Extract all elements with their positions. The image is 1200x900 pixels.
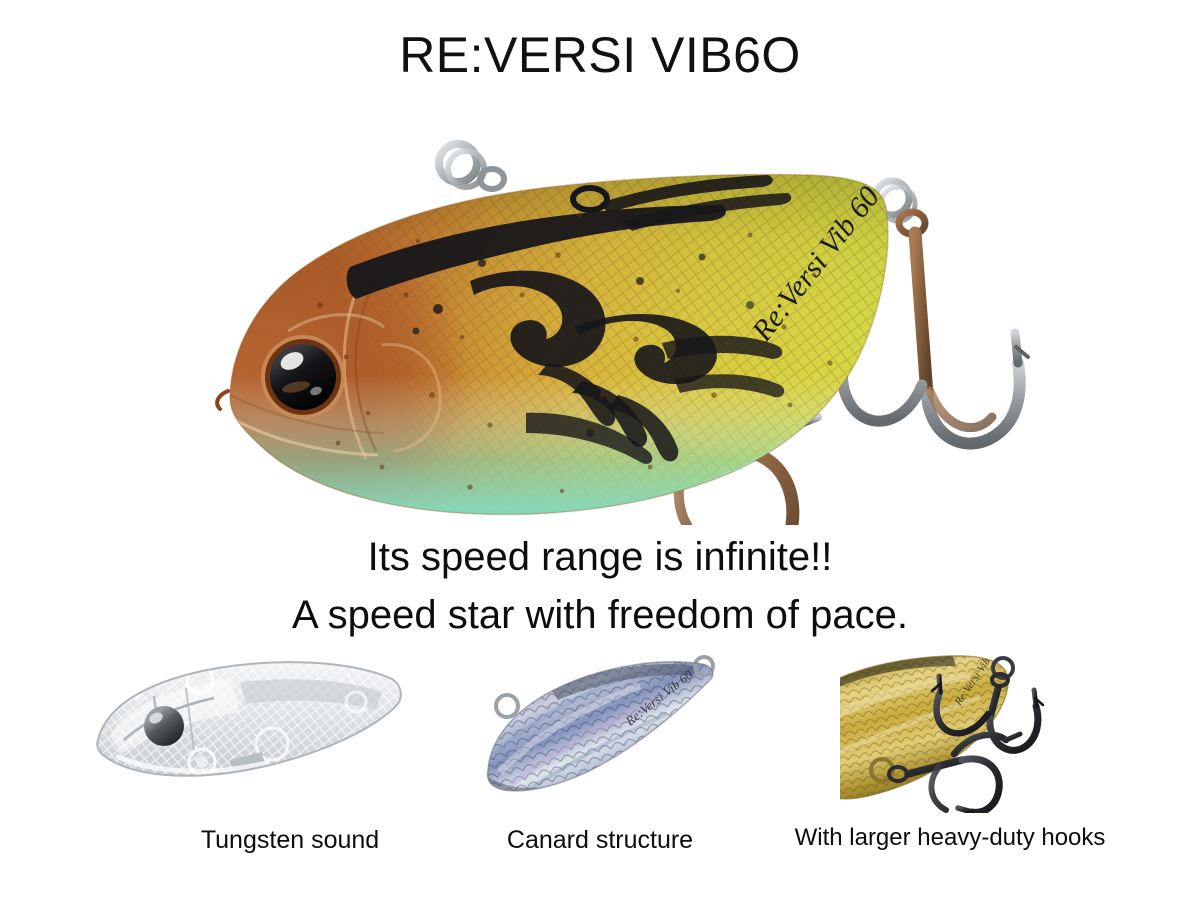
clear-lure-illustration	[90, 648, 410, 798]
tagline-line-1: Its speed range is infinite!!	[0, 528, 1200, 586]
canard-front-ring	[496, 695, 518, 717]
page-title: RE:VERSI VIB6O	[0, 28, 1200, 83]
feature-canard-structure[interactable]: Re:Versi Vib 60 Canard structure	[430, 648, 770, 883]
lure-illustration: Re:Versi Vib 60	[0, 85, 1200, 525]
gold-lure-hooks-illustration: Re:Versi Vib 60	[840, 648, 1100, 813]
feature-hooks-caption: With larger heavy-duty hooks	[740, 824, 1160, 852]
feature-canard-caption: Canard structure	[430, 826, 770, 855]
tagline: Its speed range is infinite!! A speed st…	[0, 528, 1200, 644]
lure-body: Re:Versi Vib 60	[150, 155, 930, 525]
holographic-lure-illustration: Re:Versi Vib 60	[480, 652, 730, 802]
tagline-line-2: A speed star with freedom of pace.	[0, 586, 1200, 644]
feature-heavy-duty-hooks[interactable]: Re:Versi Vib 60	[740, 648, 1160, 883]
tungsten-ball	[144, 706, 184, 746]
feature-row: Tungsten sound	[0, 648, 1200, 883]
line-tie-ring	[439, 144, 504, 189]
feature-canard-thumb: Re:Versi Vib 60	[480, 652, 730, 802]
feature-hooks-thumb: Re:Versi Vib 60	[840, 648, 1100, 813]
lure-eye	[261, 335, 345, 419]
hero-product-image: Re:Versi Vib 60	[0, 85, 1200, 525]
feature-tungsten-thumb	[90, 648, 410, 798]
